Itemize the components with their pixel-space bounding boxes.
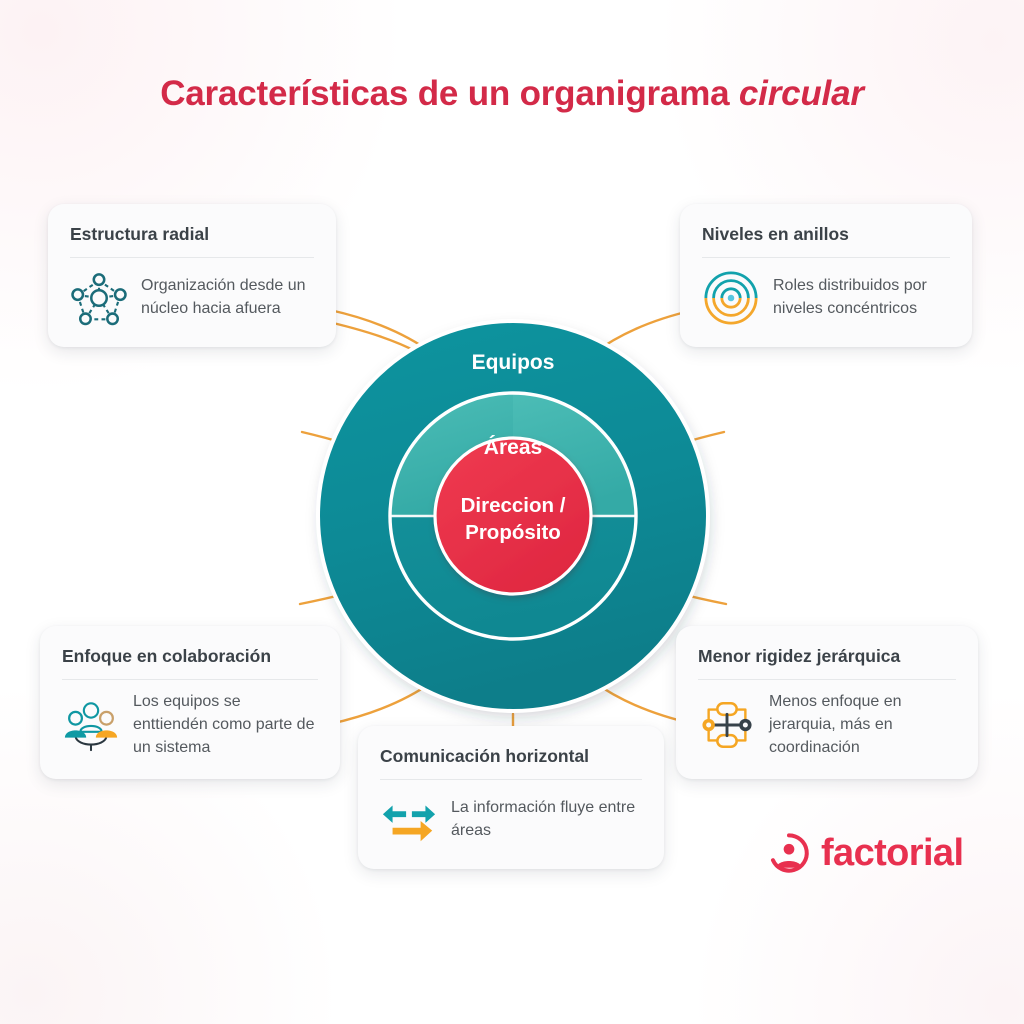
factorial-wordmark: factorial <box>821 834 963 872</box>
infographic-canvas: Características de un organigrama circul… <box>0 0 1024 1024</box>
core-label-line1: Direccion / <box>461 494 566 517</box>
concentric-rings-icon <box>702 269 760 327</box>
rings-center-dot <box>728 295 735 302</box>
card-title: Enfoque en colaboración <box>62 646 318 666</box>
card-text: Menos enfoque en jerarquia, más en coord… <box>769 691 956 759</box>
outer-ring-label: Equipos <box>472 351 555 374</box>
node-badge-right <box>739 719 751 731</box>
card-estructura-radial[interactable]: Estructura radial <box>48 204 336 347</box>
core-label-line2: Propósito <box>465 521 561 544</box>
card-title: Estructura radial <box>70 224 314 244</box>
card-divider <box>702 257 950 258</box>
card-divider <box>62 679 318 680</box>
card-text: Organización desde un núcleo hacia afuer… <box>141 275 314 320</box>
card-divider <box>70 257 314 258</box>
node-badge-left <box>702 719 714 731</box>
arrow-right-teal <box>412 806 435 823</box>
arrow-right-orange <box>393 821 433 841</box>
card-body: La información fluye entre áreas <box>380 791 642 849</box>
person-center <box>80 704 101 732</box>
card-enfoque-en-colaboracion[interactable]: Enfoque en colaboración <box>40 626 340 779</box>
card-body: Los equipos se enttiendén como parte de … <box>62 691 318 759</box>
card-text: Los equipos se enttiendén como parte de … <box>133 691 318 759</box>
card-divider <box>380 779 642 780</box>
card-body: Organización desde un núcleo hacia afuer… <box>70 269 314 327</box>
card-divider <box>698 679 956 680</box>
arrow-left-teal <box>383 806 406 823</box>
org-chart-nodes-icon <box>698 696 756 754</box>
card-body: Roles distribuidos por niveles concéntri… <box>702 269 950 327</box>
card-title: Comunicación horizontal <box>380 746 642 766</box>
person-right <box>96 712 117 738</box>
person-left <box>65 712 86 738</box>
factorial-logo: factorial <box>768 832 963 874</box>
middle-ring-label: Áreas <box>484 436 542 459</box>
bidirectional-arrows-icon <box>380 791 438 849</box>
card-text: La información fluye entre áreas <box>451 797 642 842</box>
card-niveles-en-anillos[interactable]: Niveles en anillos <box>680 204 972 347</box>
card-comunicacion-horizontal[interactable]: Comunicación horizontal La información f… <box>358 726 664 869</box>
card-body: Menos enfoque en jerarquia, más en coord… <box>698 691 956 759</box>
people-group-icon <box>62 696 120 754</box>
circular-org-diagram: Equipos Áreas Direccion / Propósito <box>313 316 713 716</box>
radial-network-icon <box>70 269 128 327</box>
card-title: Menor rigidez jerárquica <box>698 646 956 666</box>
card-title: Niveles en anillos <box>702 224 950 244</box>
card-text: Roles distribuidos por niveles concéntri… <box>773 275 950 320</box>
factorial-person-circle-icon <box>768 832 810 874</box>
card-menor-rigidez-jerarquica[interactable]: Menor rigidez jerárquica <box>676 626 978 779</box>
